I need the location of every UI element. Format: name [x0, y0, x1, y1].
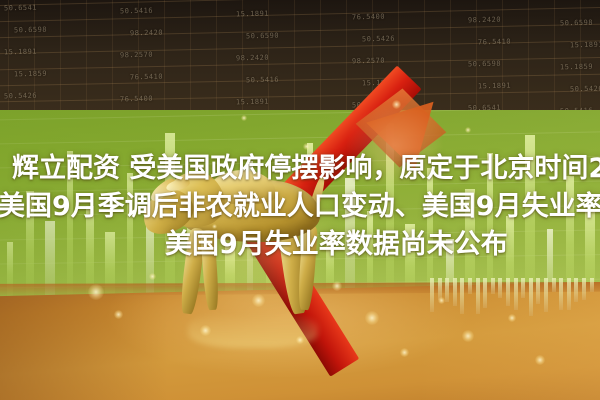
ground-bar: [567, 278, 571, 310]
headline-line-2: 美国9月季调后非农就业人口变动、美国9月失业率数: [0, 188, 600, 226]
ticker-gridline-vertical: [580, 0, 581, 112]
ticker-gridline: [0, 6, 600, 23]
ticker-number: 15.1859: [14, 70, 47, 79]
news-banner: 50.654150.659815.189115.185950.542650.54…: [0, 0, 600, 400]
ticker-number: 98.2420: [236, 54, 269, 63]
ticker-gridline-vertical: [216, 0, 217, 112]
ground-bar: [552, 278, 556, 292]
ticker-number: 50.6541: [4, 4, 37, 13]
headline-line-1: 辉立配资 受美国政府停摆影响，原定于北京时间2: [12, 150, 600, 188]
ticker-number: 98.2570: [120, 51, 153, 60]
ticker-number: 98.2420: [130, 29, 163, 38]
ground-bar: [536, 278, 540, 304]
ticker-gridline-vertical: [190, 0, 191, 112]
ticker-gridline: [0, 0, 600, 7]
ticker-number: 50.6598: [560, 19, 593, 28]
ticker-gridline-vertical: [554, 0, 555, 112]
ticker-number: 50.6598: [468, 60, 501, 69]
ticker-number: 50.5416: [246, 76, 279, 85]
ticker-number: 76.5410: [130, 73, 163, 82]
ticker-gridline-vertical: [112, 0, 113, 112]
ticker-gridline-vertical: [60, 0, 61, 112]
ticker-number: 76.5400: [352, 13, 385, 22]
ground-bar: [574, 278, 578, 302]
ticker-gridline: [0, 56, 600, 71]
ground-bar: [582, 278, 586, 300]
ticker-number: 50.5426: [570, 85, 600, 94]
ticker-number: 76.5410: [478, 38, 511, 47]
ticker-gridline-vertical: [86, 0, 87, 112]
ticker-gridline: [0, 22, 600, 39]
ticker-number: 50.5426: [4, 92, 37, 101]
ticker-number: 76.5400: [120, 95, 153, 104]
ticker-number: 50.6598: [14, 26, 47, 35]
ticker-number: 15.1891: [570, 41, 600, 50]
ticker-number: 15.1859: [560, 63, 593, 72]
bull-reflection: [188, 312, 318, 348]
ticker-number: 98.2570: [352, 57, 385, 66]
ground-bar: [544, 278, 548, 312]
ticker-number: 15.1891: [478, 82, 511, 91]
ground-bar: [559, 278, 563, 310]
ticker-number: 50.5416: [120, 7, 153, 16]
ticker-number: 15.1891: [4, 48, 37, 57]
ground-bar: [590, 278, 594, 292]
ticker-number: 50.5426: [362, 35, 395, 44]
headline-line-3: 美国9月失业率数据尚未公布: [165, 226, 508, 264]
ticker-number: 50.6590: [246, 32, 279, 41]
ticker-number: 15.1891: [236, 10, 269, 19]
ticker-gridline-vertical: [164, 0, 165, 112]
ticker-number: 98.2420: [468, 16, 501, 25]
